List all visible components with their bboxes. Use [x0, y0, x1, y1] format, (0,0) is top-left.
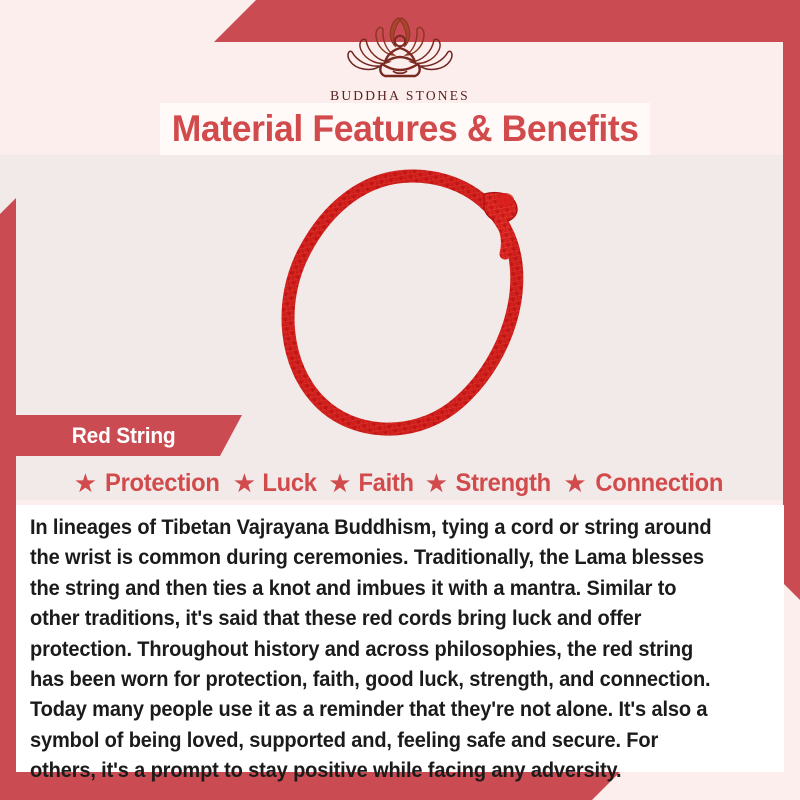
star-icon: ★ [563, 470, 586, 496]
benefit-item-strength: ★ Strength [425, 469, 554, 498]
star-icon: ★ [233, 470, 256, 496]
benefits-row: ★ Protection ★ Luck ★ Faith ★ Strength ★… [0, 463, 800, 503]
star-icon: ★ [328, 470, 351, 496]
material-name: Red String [72, 423, 176, 449]
brand-name: BUDDHA STONES [0, 88, 800, 104]
material-ribbon: Red String [16, 415, 242, 456]
benefit-item-faith: ★ Faith [328, 469, 415, 498]
meditation-figure-legs [380, 64, 419, 76]
benefit-label: Faith [358, 469, 413, 498]
benefit-item-protection: ★ Protection [74, 469, 223, 498]
benefit-label: Luck [262, 469, 316, 498]
red-string-bracelet-illustration [262, 160, 562, 450]
product-image [262, 160, 562, 450]
brand-logo: BUDDHA STONES [0, 14, 800, 104]
benefit-label: Strength [456, 469, 551, 498]
star-icon: ★ [74, 470, 97, 496]
benefit-label: Protection [105, 469, 220, 498]
description-card: In lineages of Tibetan Vajrayana Buddhis… [16, 505, 784, 772]
benefit-label: Connection [595, 469, 723, 498]
page-title: Material Features & Benefits [172, 108, 639, 150]
lotus-meditation-icon [330, 14, 470, 86]
meditation-figure-torso [385, 48, 415, 62]
description-text: In lineages of Tibetan Vajrayana Buddhis… [30, 513, 722, 787]
benefit-item-connection: ★ Connection [563, 469, 726, 498]
star-icon: ★ [425, 470, 448, 496]
benefit-item-luck: ★ Luck [233, 469, 318, 498]
page-title-plate: Material Features & Benefits [160, 103, 650, 155]
infographic-poster: BUDDHA STONES Material Features & Benefi… [0, 0, 800, 800]
